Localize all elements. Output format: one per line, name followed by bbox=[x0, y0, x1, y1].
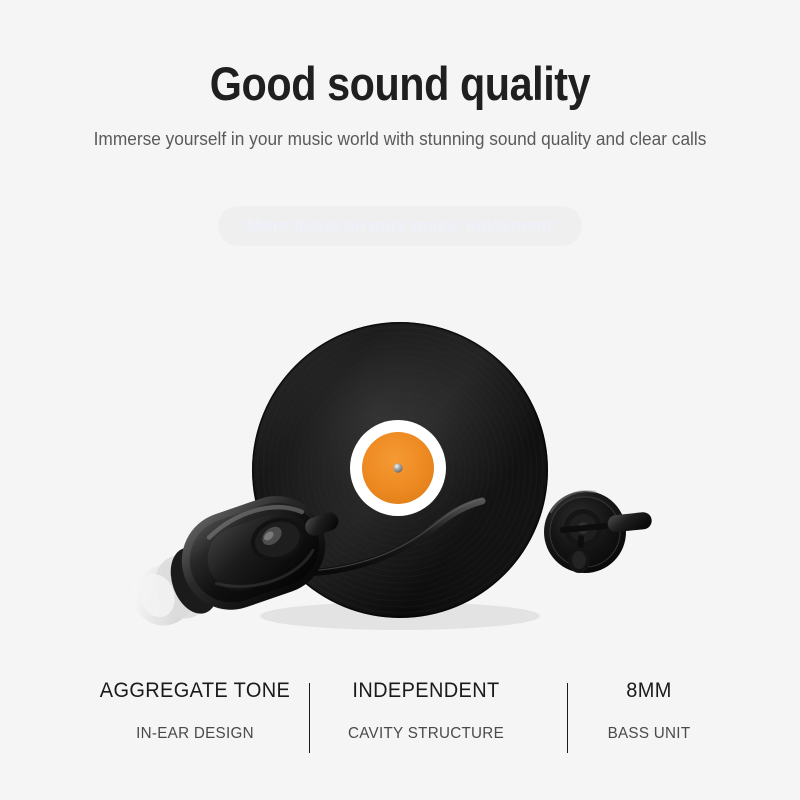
right-earbud bbox=[544, 491, 653, 573]
pill-container: More focus on pure music enjoyment bbox=[0, 206, 800, 246]
feature-title: 8MM bbox=[535, 676, 763, 706]
feature-item-8mm: 8MM BASS UNIT bbox=[529, 676, 769, 749]
product-image bbox=[0, 300, 800, 660]
page-title: Good sound quality bbox=[48, 0, 752, 107]
page-subtitle: Immerse yourself in your music world wit… bbox=[64, 107, 736, 154]
focus-music-pill-button[interactable]: More focus on pure music enjoyment bbox=[218, 206, 583, 246]
feature-title: AGGREGATE TONE bbox=[81, 676, 309, 706]
feature-item-aggregate-tone: AGGREGATE TONE IN-EAR DESIGN bbox=[75, 676, 315, 749]
product-banner: Good sound quality Immerse yourself in y… bbox=[0, 0, 800, 800]
feature-subtitle: IN-EAR DESIGN bbox=[81, 706, 309, 749]
feature-strip: AGGREGATE TONE IN-EAR DESIGN INDEPENDENT… bbox=[0, 676, 800, 766]
header-block: Good sound quality Immerse yourself in y… bbox=[0, 0, 800, 154]
feature-subtitle: BASS UNIT bbox=[535, 706, 763, 749]
feature-item-independent: INDEPENDENT CAVITY STRUCTURE bbox=[306, 676, 546, 749]
feature-title: INDEPENDENT bbox=[312, 676, 540, 706]
record-spindle bbox=[393, 463, 402, 472]
feature-subtitle: CAVITY STRUCTURE bbox=[312, 706, 540, 749]
